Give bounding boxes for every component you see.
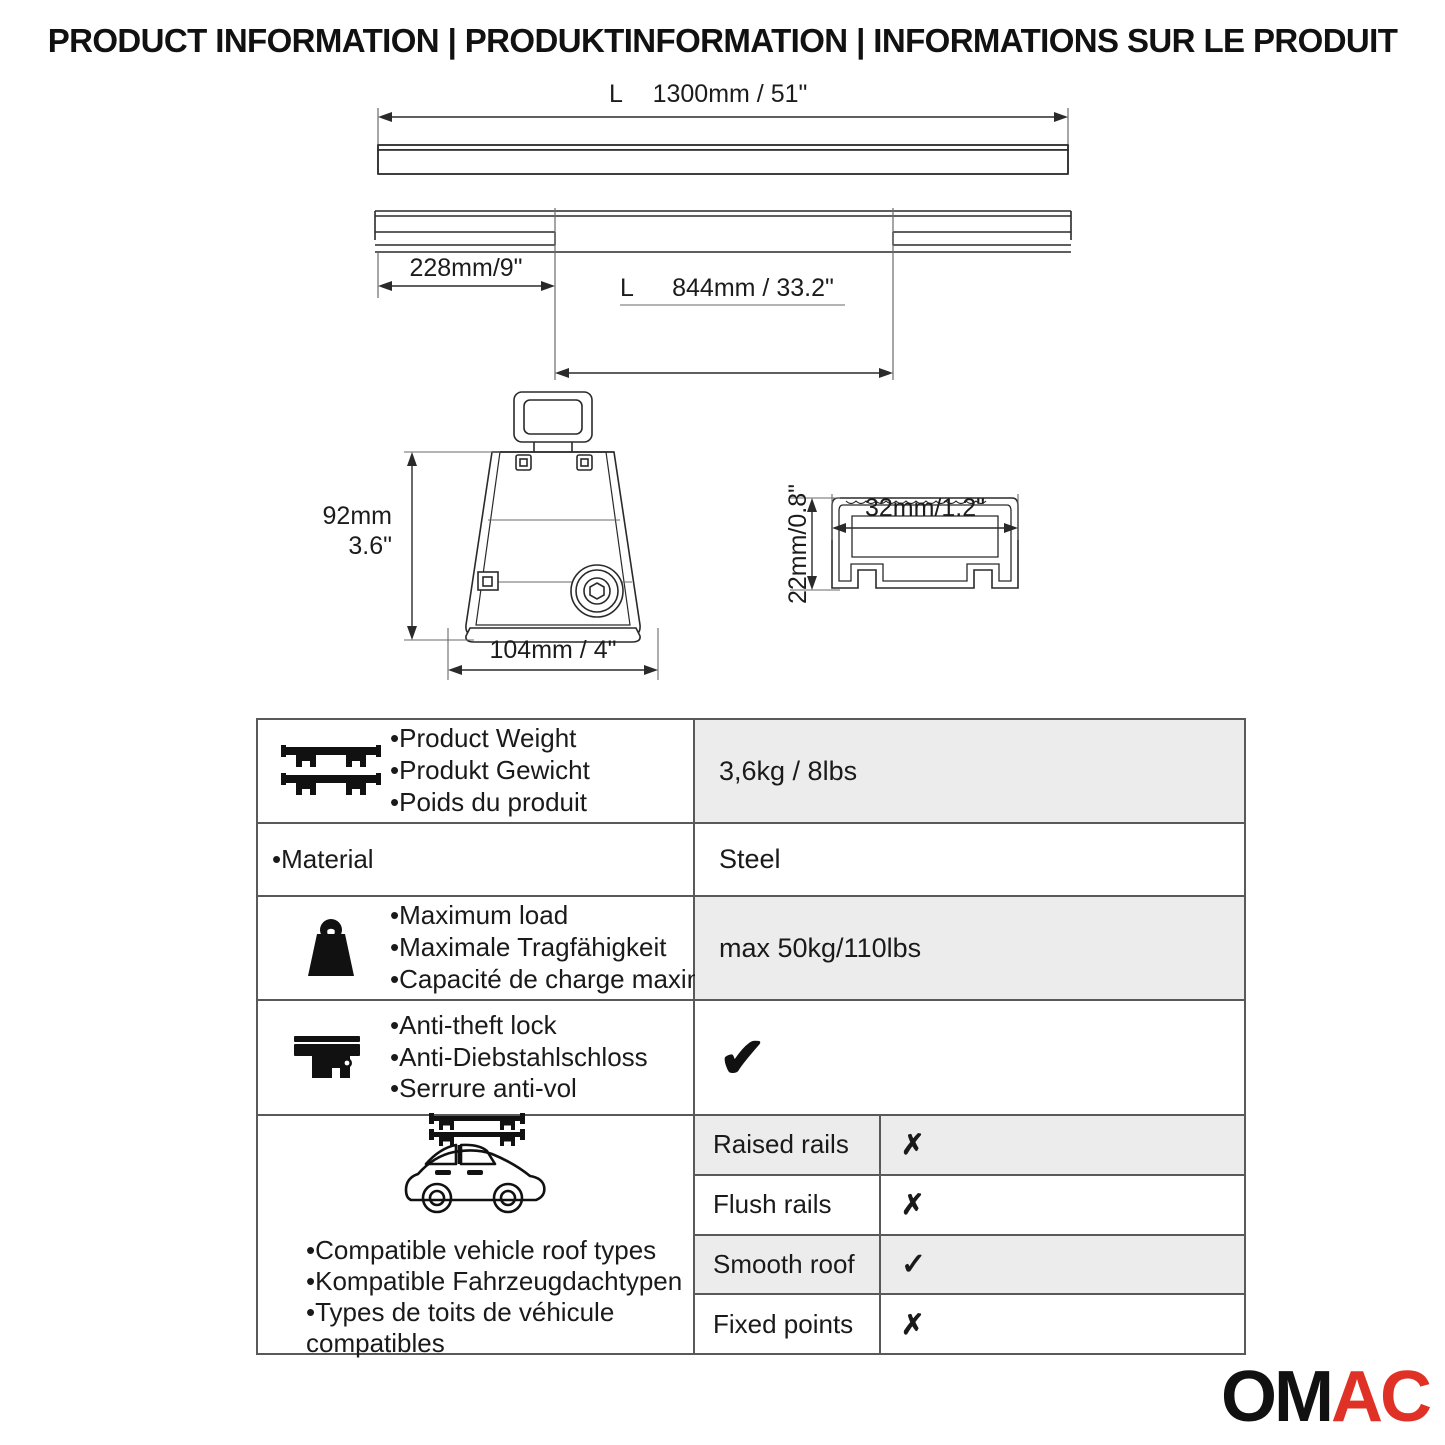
weight-icon [272, 917, 390, 979]
label-line-de: •Kompatible Fahrzeugdachtypen [306, 1266, 682, 1297]
label-line-fr: •Types de toits de véhicule [306, 1297, 682, 1328]
dim-end-offset: 228mm/9" [409, 254, 522, 282]
label-line-en: •Product Weight [390, 723, 590, 755]
logo-text-dark: OM [1221, 1357, 1331, 1437]
row-label-text: •Product Weight •Produkt Gewicht •Poids … [390, 723, 590, 818]
roof-option-mark: ✓ [881, 1236, 1244, 1294]
dim-span-prefix: L [620, 274, 634, 302]
roof-option-label: Raised rails [695, 1116, 881, 1174]
roof-option-flush-rails: Flush rails ✗ [695, 1176, 1244, 1236]
label-line-fr-cont: compatibles [306, 1328, 682, 1359]
roof-option-label: Smooth roof [695, 1236, 881, 1294]
roof-option-mark: ✗ [881, 1116, 1244, 1174]
specification-table: •Product Weight •Produkt Gewicht •Poids … [256, 718, 1246, 1355]
label-line-fr: •Capacité de charge maximale [390, 964, 743, 996]
roof-option-fixed-points: Fixed points ✗ [695, 1295, 1244, 1353]
label-line-en: •Compatible vehicle roof types [306, 1235, 682, 1266]
omac-logo: OMAC [1221, 1361, 1429, 1433]
row-value-maximum-load: max 50kg/110lbs [695, 897, 1244, 999]
row-label-product-weight: •Product Weight •Produkt Gewicht •Poids … [258, 720, 695, 822]
table-row: •Product Weight •Produkt Gewicht •Poids … [258, 720, 1244, 824]
roof-option-label: Fixed points [695, 1295, 881, 1353]
label-line-de: •Produkt Gewicht [390, 755, 590, 787]
roof-option-mark: ✗ [881, 1295, 1244, 1353]
table-row: •Material Steel [258, 824, 1244, 897]
checkmark-icon: ✔ [719, 1030, 766, 1086]
dim-profile-width: 32mm/1.2" [865, 494, 985, 522]
row-value-anti-theft-lock: ✔ [695, 1001, 1244, 1114]
dim-foot-height-line1: 92mm [323, 502, 392, 530]
page-title: PRODUCT INFORMATION | PRODUKTINFORMATION… [0, 22, 1445, 60]
label-line-fr: •Poids du produit [390, 787, 590, 819]
roof-types-label-text: •Compatible vehicle roof types •Kompatib… [264, 1235, 682, 1360]
label-line-fr: •Serrure anti-vol [390, 1073, 648, 1105]
dim-foot-height-line2: 3.6" [348, 532, 392, 560]
roof-option-smooth-roof: Smooth roof ✓ [695, 1236, 1244, 1296]
row-label-roof-types: •Compatible vehicle roof types •Kompatib… [258, 1116, 695, 1353]
row-label-text: •Material [272, 844, 374, 876]
label-line-de: •Maximale Tragfähigkeit [390, 932, 743, 964]
dim-span-value: 844mm / 33.2" [672, 274, 834, 302]
logo-text-accent: AC [1331, 1357, 1429, 1437]
label-line-en: •Anti-theft lock [390, 1010, 648, 1042]
dim-bar-length-value: 1300mm / 51" [653, 80, 808, 108]
dim-bar-length-prefix: L [609, 80, 623, 108]
table-row: •Maximum load •Maximale Tragfähigkeit •C… [258, 897, 1244, 1001]
lock-icon [272, 1030, 390, 1086]
row-label-material: •Material [258, 824, 695, 895]
row-value-product-weight: 3,6kg / 8lbs [695, 720, 1244, 822]
row-label-maximum-load: •Maximum load •Maximale Tragfähigkeit •C… [258, 897, 695, 999]
dim-foot-width: 104mm / 4" [490, 636, 617, 664]
label-line-en: •Maximum load [390, 900, 743, 932]
technical-drawing: L 1300mm / 51" 228mm/9" L 844mm / 33.2" … [0, 80, 1445, 710]
row-label-anti-theft-lock: •Anti-theft lock •Anti-Diebstahlschloss … [258, 1001, 695, 1114]
car-with-roofbars-icon [391, 1108, 561, 1225]
roof-option-mark: ✗ [881, 1176, 1244, 1234]
roof-option-raised-rails: Raised rails ✗ [695, 1116, 1244, 1176]
row-value-material: Steel [695, 824, 1244, 895]
row-label-text: •Maximum load •Maximale Tragfähigkeit •C… [390, 900, 743, 995]
dim-profile-height: 22mm/0.8" [784, 484, 812, 604]
table-row: •Anti-theft lock •Anti-Diebstahlschloss … [258, 1001, 1244, 1116]
label-line-en: •Material [272, 844, 374, 876]
label-line-de: •Anti-Diebstahlschloss [390, 1042, 648, 1074]
table-row-roof-types: •Compatible vehicle roof types •Kompatib… [258, 1116, 1244, 1353]
row-label-text: •Anti-theft lock •Anti-Diebstahlschloss … [390, 1010, 648, 1105]
roof-option-label: Flush rails [695, 1176, 881, 1234]
crossbars-icon [272, 741, 390, 801]
roof-type-options: Raised rails ✗ Flush rails ✗ Smooth roof… [695, 1116, 1244, 1353]
